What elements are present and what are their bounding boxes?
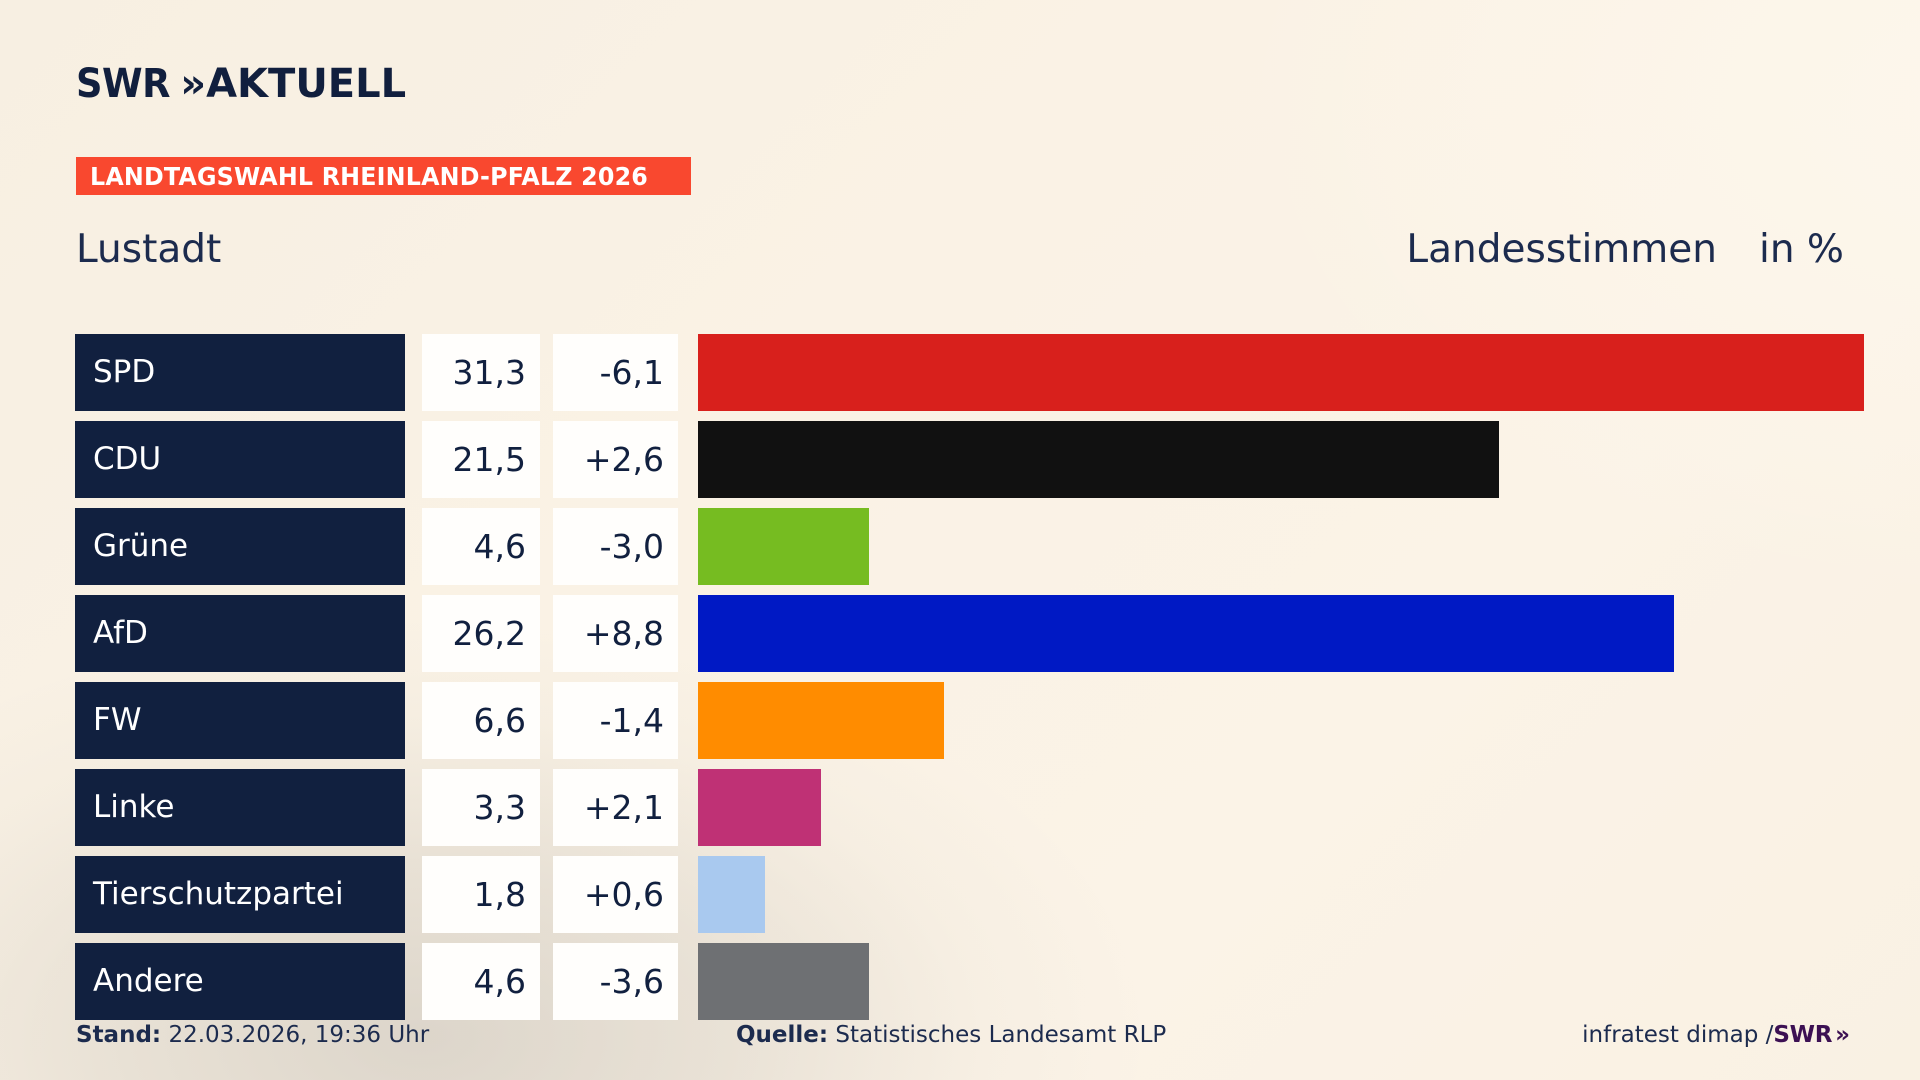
bar-track [698, 943, 1865, 1020]
table-row: SPD31,3-6,1 [75, 331, 1865, 418]
result-bar [698, 595, 1674, 672]
party-name: CDU [93, 444, 161, 475]
result-bar [698, 334, 1864, 411]
result-value-cell: 4,6 [422, 508, 540, 585]
timestamp-value: 22.03.2026, 19:36 Uhr [168, 1022, 429, 1048]
credit-swr-wordmark: SWR [1773, 1022, 1832, 1048]
timestamp-block: Stand: 22.03.2026, 19:36 Uhr [76, 1022, 429, 1048]
credit-agency: infratest dimap / [1582, 1022, 1773, 1048]
result-value-cell: 1,8 [422, 856, 540, 933]
result-change: +8,8 [584, 617, 664, 650]
results-table: SPD31,3-6,1CDU21,5+2,6Grüne4,6-3,0AfD26,… [75, 331, 1865, 1027]
result-change: +2,6 [584, 443, 664, 476]
result-change: -6,1 [600, 356, 664, 389]
result-value: 31,3 [453, 356, 526, 389]
footer: Stand: 22.03.2026, 19:36 Uhr Quelle: Sta… [76, 1022, 1844, 1058]
swr-aktuell-logo: SWR » AKTUELL [76, 58, 406, 110]
result-change-cell: +2,6 [553, 421, 678, 498]
vote-type-group: Landesstimmen in % [1406, 230, 1844, 269]
bar-track [698, 508, 1865, 585]
result-value-cell: 6,6 [422, 682, 540, 759]
result-change-cell: -6,1 [553, 334, 678, 411]
unit-label: in % [1759, 230, 1844, 269]
result-change-cell: -3,6 [553, 943, 678, 1020]
result-change-cell: +8,8 [553, 595, 678, 672]
result-bar [698, 682, 944, 759]
party-label-cell: CDU [75, 421, 405, 498]
result-value-cell: 21,5 [422, 421, 540, 498]
party-name: Tierschutzpartei [93, 879, 344, 910]
party-label-cell: Linke [75, 769, 405, 846]
credit-chevron-double-right-icon: » [1835, 1022, 1844, 1048]
source-block: Quelle: Statistisches Landesamt RLP [736, 1022, 1166, 1048]
result-change-cell: -1,4 [553, 682, 678, 759]
election-title-badge: LANDTAGSWAHL RHEINLAND-PFALZ 2026 [76, 157, 691, 195]
party-label-cell: AfD [75, 595, 405, 672]
result-value: 4,6 [474, 530, 526, 563]
result-value: 4,6 [474, 965, 526, 998]
result-change-cell: +0,6 [553, 856, 678, 933]
table-row: Linke3,3+2,1 [75, 766, 1865, 853]
table-row: FW6,6-1,4 [75, 679, 1865, 766]
party-label-cell: Grüne [75, 508, 405, 585]
source-value: Statistisches Landesamt RLP [835, 1022, 1166, 1048]
chevron-double-right-icon: » [180, 64, 200, 104]
place-name: Lustadt [76, 230, 221, 269]
result-bar [698, 421, 1499, 498]
result-bar [698, 508, 869, 585]
result-value: 3,3 [474, 791, 526, 824]
result-bar [698, 769, 821, 846]
credit-block: infratest dimap / SWR» [1582, 1022, 1844, 1048]
result-value: 6,6 [474, 704, 526, 737]
table-row: Grüne4,6-3,0 [75, 505, 1865, 592]
party-label-cell: Tierschutzpartei [75, 856, 405, 933]
vote-type-label: Landesstimmen [1406, 230, 1717, 269]
party-label-cell: SPD [75, 334, 405, 411]
result-bar [698, 943, 869, 1020]
bar-track [698, 334, 1865, 411]
result-change: -1,4 [600, 704, 664, 737]
bar-track [698, 421, 1865, 498]
party-name: AfD [93, 618, 148, 649]
table-row: AfD26,2+8,8 [75, 592, 1865, 679]
table-row: Andere4,6-3,6 [75, 940, 1865, 1027]
election-result-graphic: SWR » AKTUELL LANDTAGSWAHL RHEINLAND-PFA… [0, 0, 1920, 1080]
result-value-cell: 31,3 [422, 334, 540, 411]
result-value-cell: 4,6 [422, 943, 540, 1020]
swr-wordmark: SWR [76, 64, 170, 104]
result-value: 21,5 [453, 443, 526, 476]
result-change-cell: -3,0 [553, 508, 678, 585]
party-name: FW [93, 705, 141, 736]
party-name: Andere [93, 966, 204, 997]
party-name: Grüne [93, 531, 188, 562]
result-value-cell: 26,2 [422, 595, 540, 672]
table-row: CDU21,5+2,6 [75, 418, 1865, 505]
bar-track [698, 595, 1865, 672]
result-value-cell: 3,3 [422, 769, 540, 846]
result-change: -3,0 [600, 530, 664, 563]
result-change: +2,1 [584, 791, 664, 824]
party-name: SPD [93, 357, 155, 388]
bar-track [698, 769, 1865, 846]
subheader: Lustadt Landesstimmen in % [76, 222, 1844, 276]
table-row: Tierschutzpartei1,8+0,6 [75, 853, 1865, 940]
result-bar [698, 856, 765, 933]
timestamp-label: Stand: [76, 1022, 161, 1048]
party-label-cell: Andere [75, 943, 405, 1020]
credit-swr-logo: SWR» [1773, 1022, 1844, 1048]
result-change: -3,6 [600, 965, 664, 998]
result-value: 26,2 [453, 617, 526, 650]
party-name: Linke [93, 792, 174, 823]
party-label-cell: FW [75, 682, 405, 759]
result-change-cell: +2,1 [553, 769, 678, 846]
source-label: Quelle: [736, 1022, 828, 1048]
bar-track [698, 856, 1865, 933]
election-title-text: LANDTAGSWAHL RHEINLAND-PFALZ 2026 [90, 164, 648, 189]
bar-track [698, 682, 1865, 759]
result-value: 1,8 [474, 878, 526, 911]
aktuell-wordmark: AKTUELL [206, 61, 406, 107]
result-change: +0,6 [584, 878, 664, 911]
